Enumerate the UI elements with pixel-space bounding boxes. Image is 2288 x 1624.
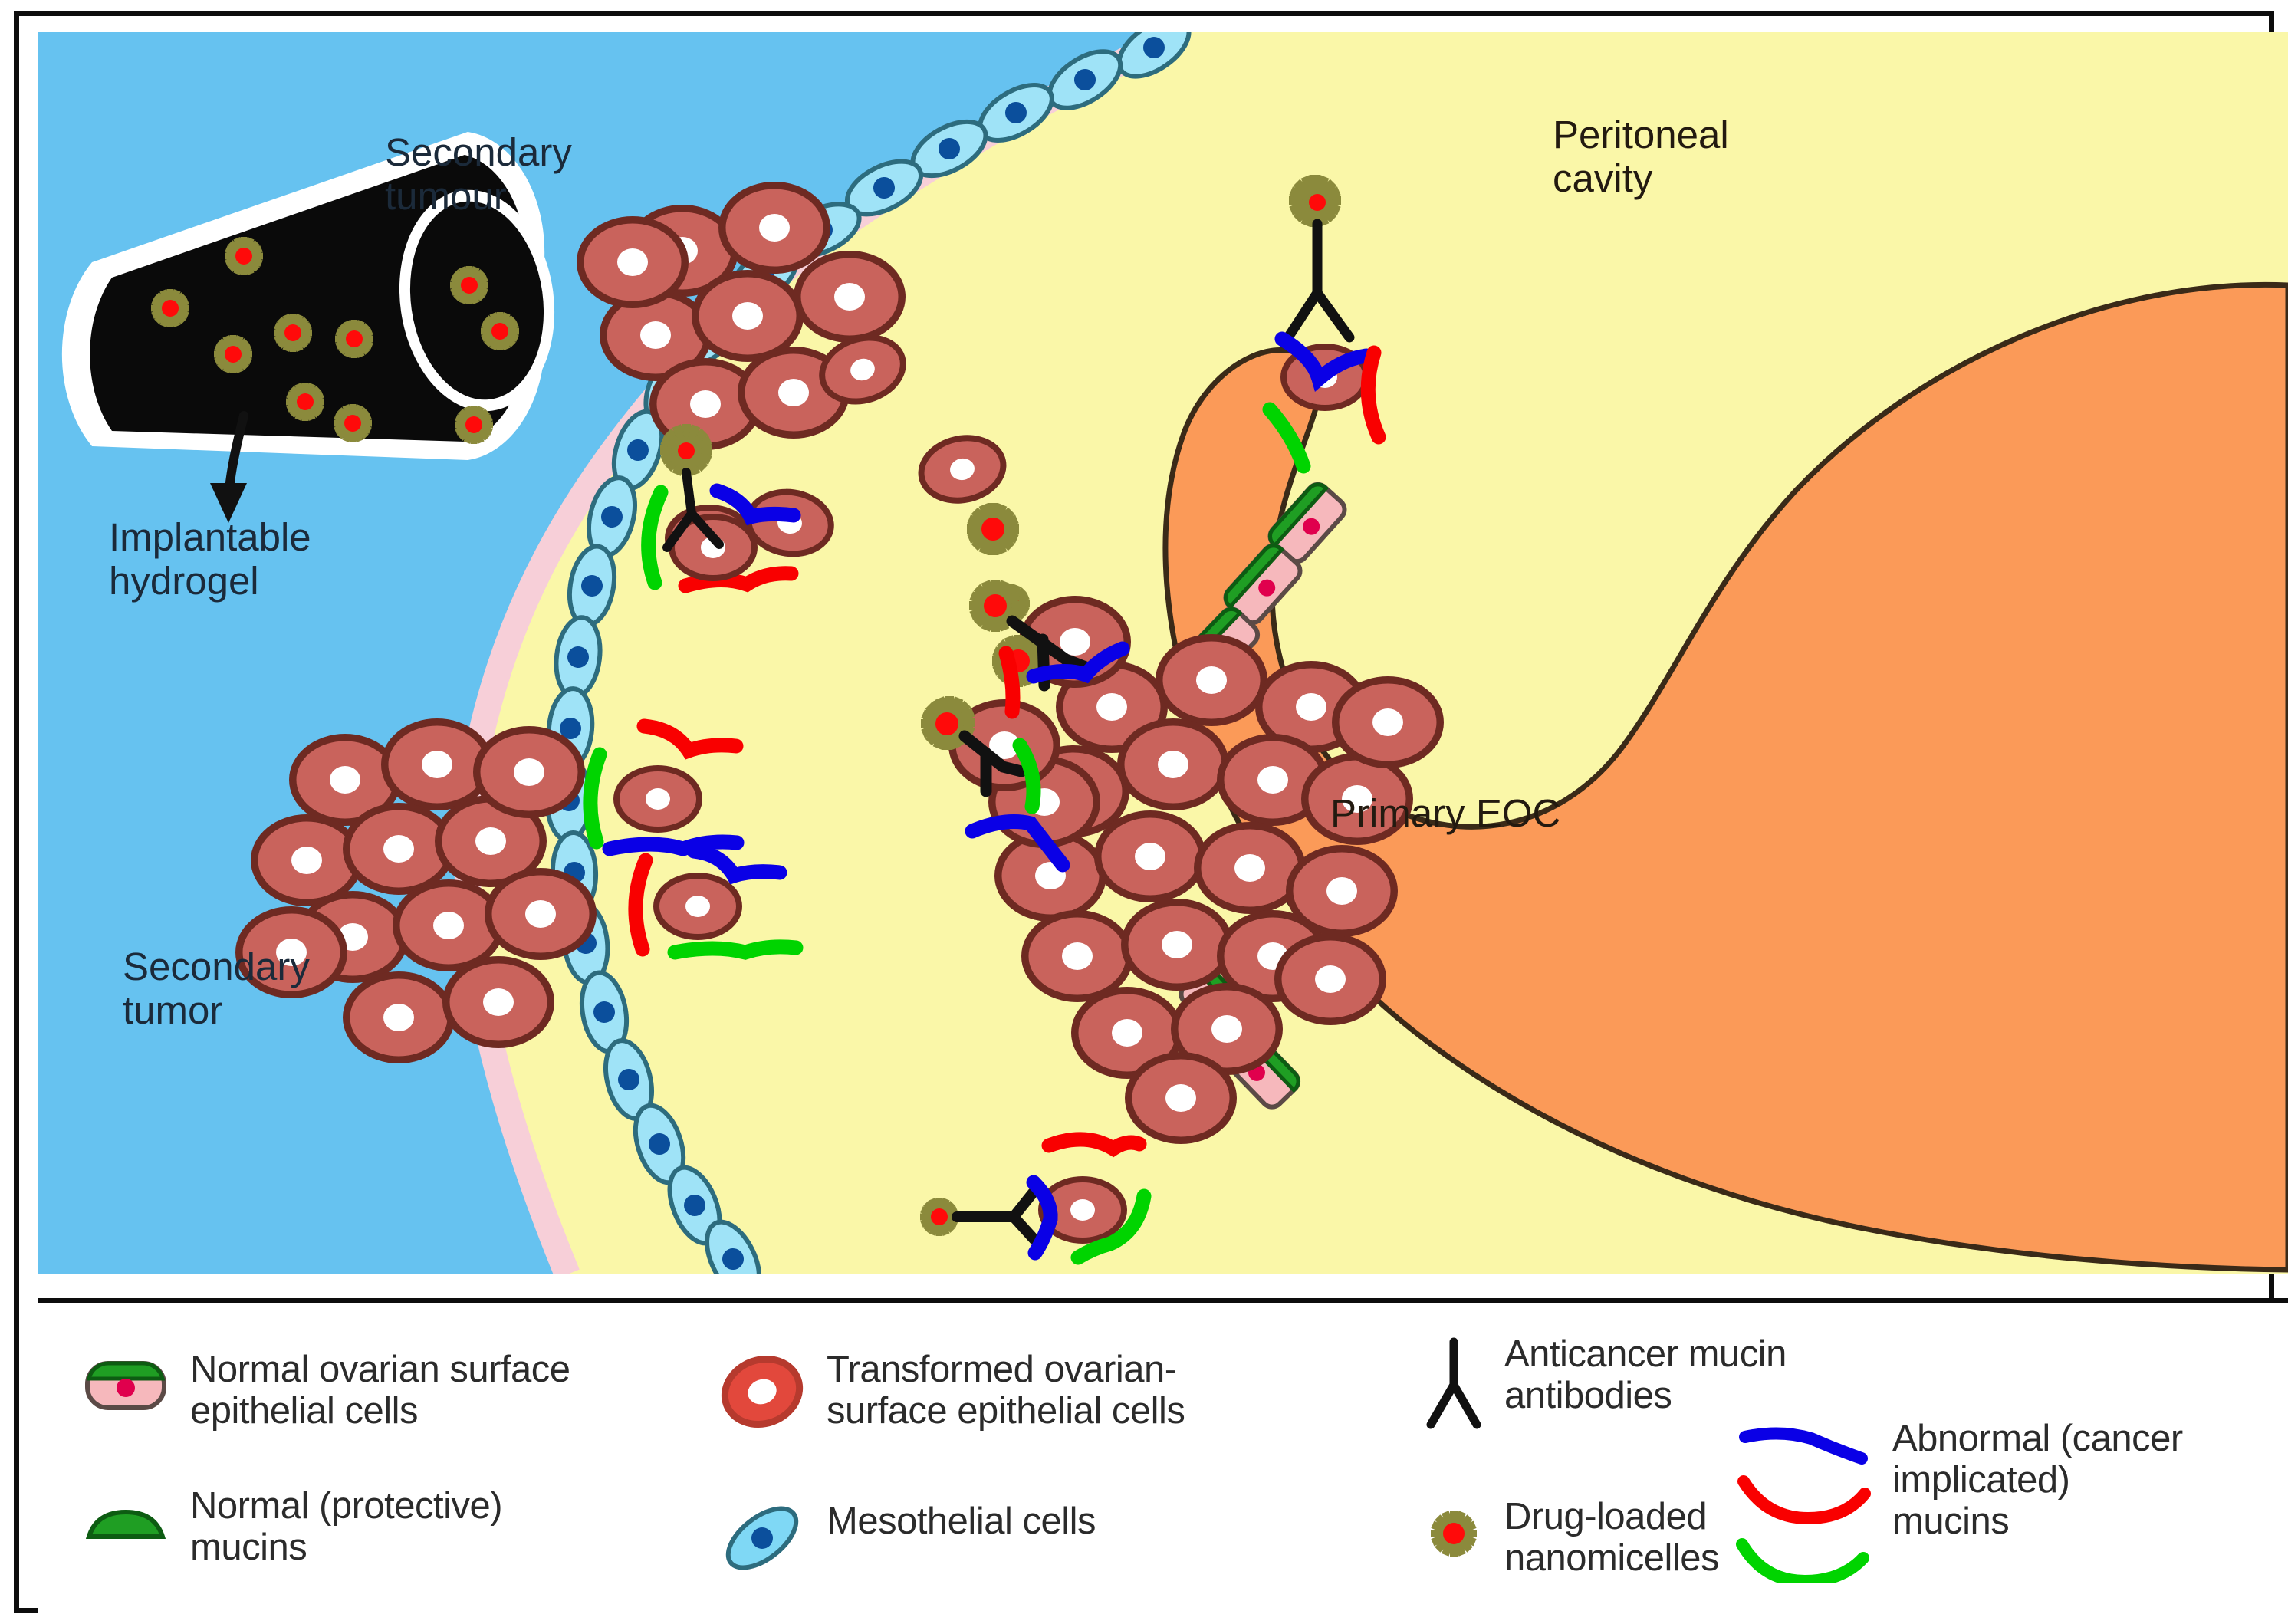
legend-label: Transformed ovarian- surface epithelial … [827,1349,1185,1432]
protective-mucin-icon [77,1486,175,1563]
label-peritoneal-cavity: Peritoneal cavity [1553,113,1729,200]
figure-root: Secondary tumour Implantable hydrogel Pe… [0,0,2288,1624]
illustration-panel: Secondary tumour Implantable hydrogel Pe… [38,32,2288,1274]
legend-item-transformed-ovarian-surface-epithelial-cells: Transformed ovarian- surface epithelial … [713,1349,1326,1438]
legend-label: Mesothelial cells [827,1501,1096,1543]
legend-label: Abnormal (cancer implicated) mucins [1892,1419,2183,1543]
legend-item-mesothelial-cells: Mesothelial cells [713,1501,1326,1579]
label-implantable-hydrogel: Implantable hydrogel [109,515,311,603]
antibody-icon [1418,1334,1489,1438]
legend-item-normal-ovarian-surface-epithelial-cells: Normal ovarian surface epithelial cells [77,1349,705,1432]
figure-frame: Secondary tumour Implantable hydrogel Pe… [14,11,2274,1613]
normal-epithelial-cell-icon [77,1349,175,1427]
abnormal-mucin-icon [1731,1419,1877,1587]
nanomicelle-icon [1418,1497,1489,1574]
mesothelial-cell-icon [713,1501,811,1579]
label-secondary-tumour-top: Secondary tumour [385,130,572,218]
transformed-cell-icon [713,1349,811,1438]
legend-label: Drug-loaded nanomicelles [1504,1497,1719,1580]
legend-label: Normal (protective) mucins [190,1486,502,1569]
label-secondary-tumour-bottom: Secondary tumor [123,945,310,1032]
legend-label: Normal ovarian surface epithelial cells [190,1349,570,1432]
legend-item-normal-protective-mucins: Normal (protective) mucins [77,1486,705,1569]
label-primary-eoc: Primary EOC [1330,791,1560,835]
legend-item-abnormal-cancer-implicated-mucins: Abnormal (cancer implicated) mucins [1731,1419,2283,1587]
legend-label: Anticancer mucin antibodies [1504,1334,1787,1417]
legend-panel: Normal ovarian surface epithelial cells … [38,1298,2288,1624]
